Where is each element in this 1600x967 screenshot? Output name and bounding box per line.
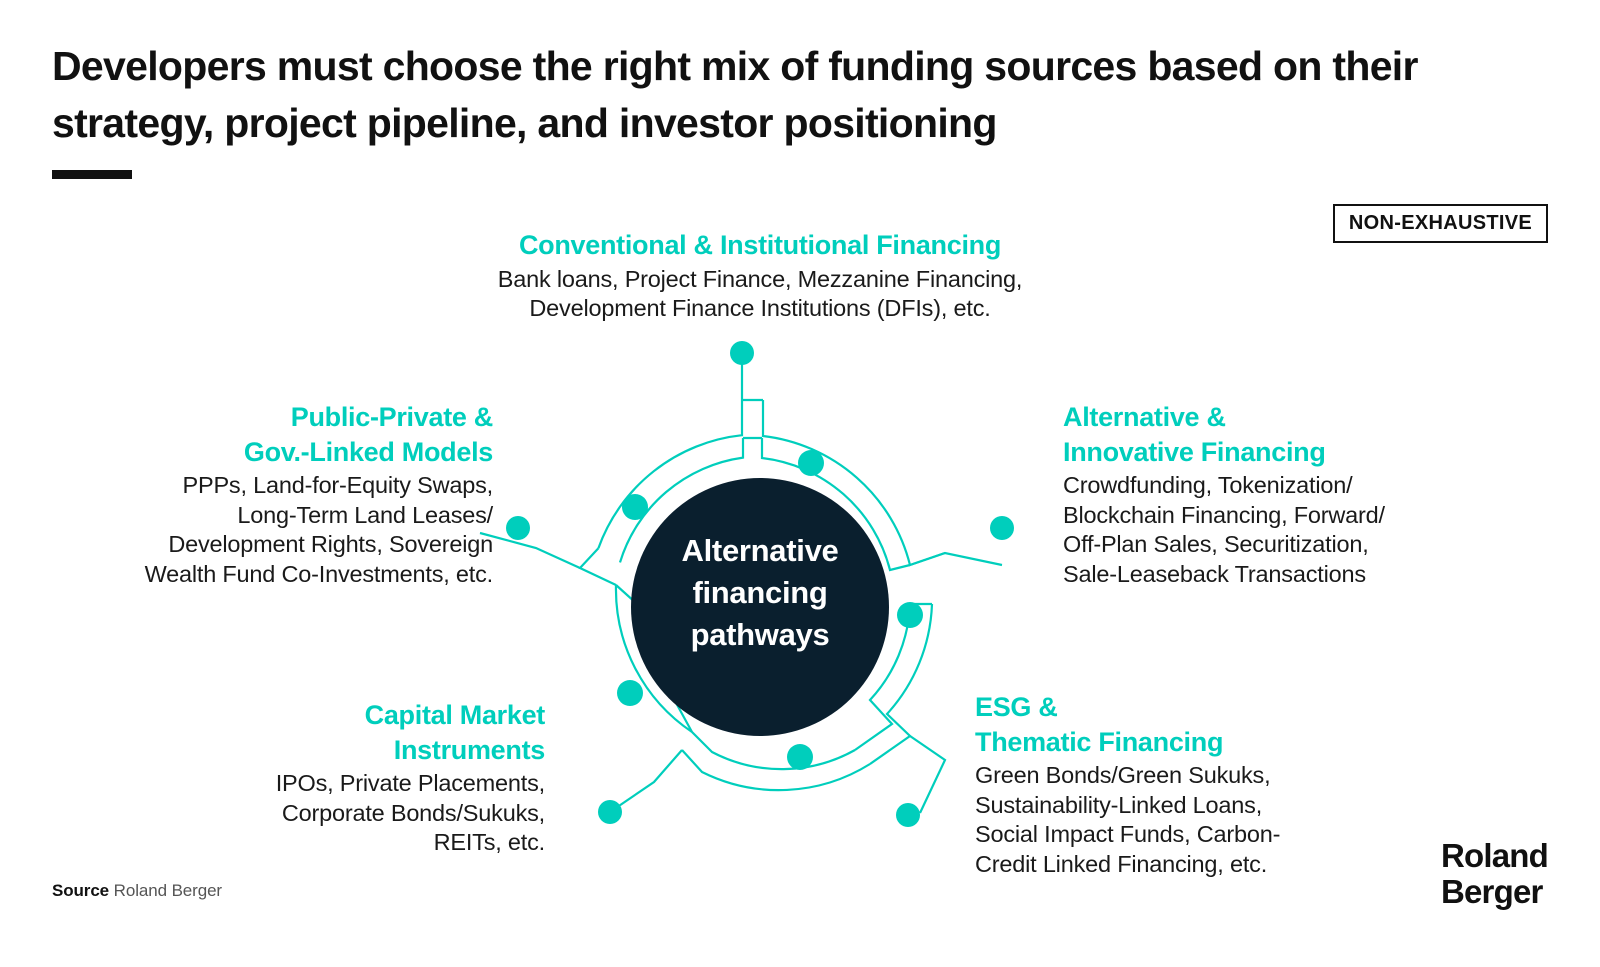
node-dot-capital-market-outer[interactable] <box>598 800 622 824</box>
node-heading-ppp: Public-Private & Gov.-Linked Models <box>48 400 493 469</box>
connector-left-lower <box>610 750 682 812</box>
node-label-esg[interactable]: ESG & Thematic Financing Green Bonds/Gre… <box>975 690 1445 880</box>
roland-berger-logo: Roland Berger <box>1441 838 1548 909</box>
source-value: Roland Berger <box>114 881 222 900</box>
node-body-conventional: Bank loans, Project Finance, Mezzanine F… <box>420 265 1100 324</box>
notch-top-left <box>580 548 616 585</box>
hub-circle <box>631 478 889 736</box>
status-badge: NON-EXHAUSTIVE <box>1333 204 1548 243</box>
connector-right-lower <box>910 736 945 813</box>
slide-canvas: Developers must choose the right mix of … <box>0 0 1600 967</box>
connector-left-upper <box>480 533 580 568</box>
source-label: Source <box>52 881 109 900</box>
node-body-ppp: PPPs, Land-for-Equity Swaps, Long-Term L… <box>48 471 493 589</box>
node-dot-esg-outer[interactable] <box>896 803 920 827</box>
node-body-capital-market: IPOs, Private Placements, Corporate Bond… <box>150 769 545 858</box>
node-label-alternative[interactable]: Alternative & Innovative Financing Crowd… <box>1063 400 1533 590</box>
node-heading-esg: ESG & Thematic Financing <box>975 690 1445 759</box>
node-dot-ppp-outer[interactable] <box>506 516 530 540</box>
node-label-ppp[interactable]: Public-Private & Gov.-Linked Models PPPs… <box>48 400 493 590</box>
node-body-esg: Green Bonds/Green Sukuks, Sustainability… <box>975 761 1445 879</box>
ring-dot-upper-left[interactable] <box>622 494 648 520</box>
ring-dot-right[interactable] <box>897 602 923 628</box>
node-label-capital-market[interactable]: Capital Market Instruments IPOs, Private… <box>150 698 545 858</box>
ring-dot-upper-right[interactable] <box>798 450 824 476</box>
node-label-conventional[interactable]: Conventional & Institutional Financing B… <box>420 228 1100 324</box>
node-dot-alternative-outer[interactable] <box>990 516 1014 540</box>
title-underline-rule <box>52 170 132 179</box>
arc-inner-bottom <box>692 732 855 769</box>
node-dot-conventional-outer[interactable] <box>730 341 754 365</box>
source-note: Source Roland Berger <box>52 881 222 901</box>
ring-dot-lower-left[interactable] <box>617 680 643 706</box>
node-heading-conventional: Conventional & Institutional Financing <box>420 228 1100 263</box>
ring-dot-bottom[interactable] <box>787 744 813 770</box>
node-heading-capital-market: Capital Market Instruments <box>150 698 545 767</box>
page-title: Developers must choose the right mix of … <box>52 38 1532 151</box>
node-heading-alternative: Alternative & Innovative Financing <box>1063 400 1533 469</box>
node-body-alternative: Crowdfunding, Tokenization/ Blockchain F… <box>1063 471 1533 589</box>
connector-right-upper <box>910 553 1002 565</box>
